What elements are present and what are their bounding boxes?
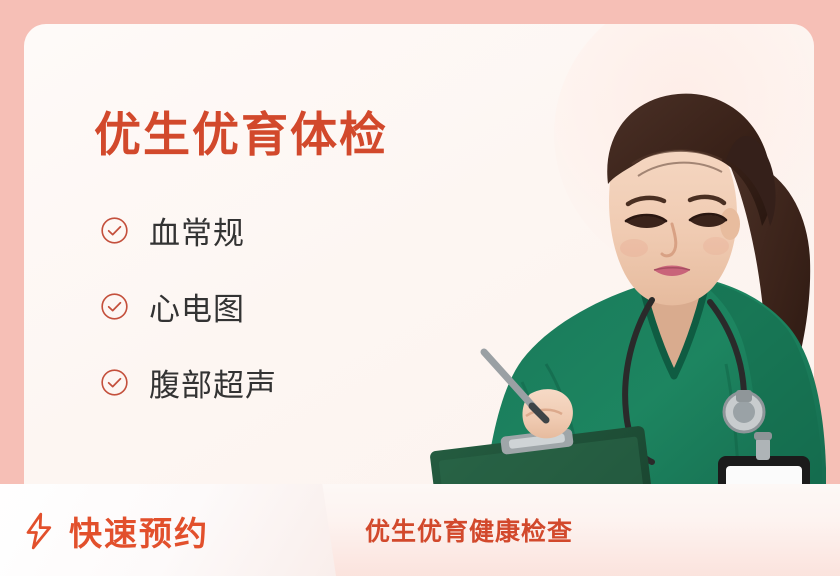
lightning-bolt-icon	[24, 512, 54, 550]
circle-check-icon	[100, 292, 129, 321]
list-item: 腹部超声	[100, 344, 277, 420]
list-item: 血常规	[100, 192, 277, 268]
feature-label: 血常规	[149, 208, 245, 253]
page-title: 优生优育体检	[94, 109, 388, 161]
poster-root: 优生优育体检 血常规 心电图	[0, 0, 840, 576]
bottom-subtitle: 优生优育健康检查	[365, 512, 573, 548]
quick-book-label: 快速预约	[69, 507, 209, 555]
feature-label: 心电图	[149, 284, 245, 329]
circle-check-icon	[100, 216, 129, 245]
bottom-bar: 优生优育健康检查 快速预约	[0, 484, 840, 576]
feature-list: 血常规 心电图 腹部超声	[100, 192, 277, 420]
feature-label: 腹部超声	[149, 360, 277, 405]
quick-book-button[interactable]: 快速预约	[0, 484, 336, 576]
list-item: 心电图	[100, 268, 277, 344]
circle-check-icon	[100, 368, 129, 397]
